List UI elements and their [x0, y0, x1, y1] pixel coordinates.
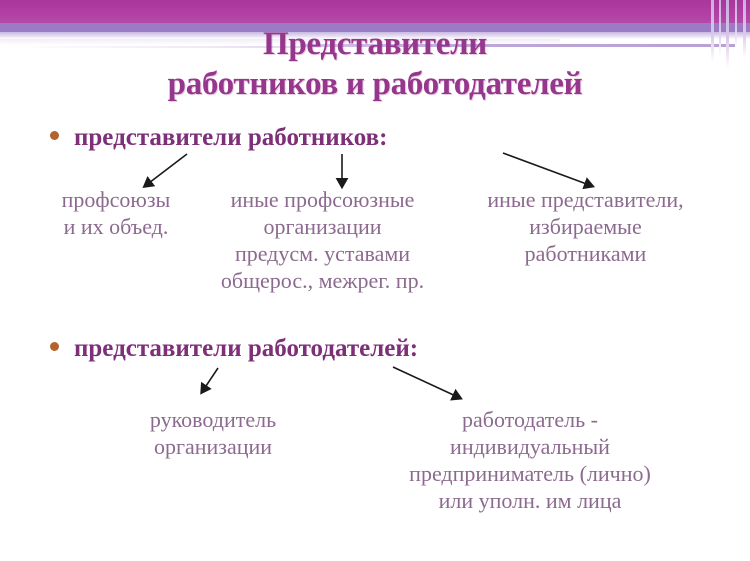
text-line: организации: [108, 433, 318, 460]
bullet-label-employer-representatives: представители работодателей:: [74, 334, 418, 364]
text-line: или уполн. им лица: [330, 487, 730, 514]
bullet-dot-icon: [50, 342, 59, 351]
text-block-individual-entrepreneur: работодатель - индивидуальный предприним…: [330, 406, 730, 514]
text-line: индивидуальный: [330, 433, 730, 460]
slide-canvas: Представители работников и работодателей…: [0, 0, 750, 561]
text-line: общерос., межрег. пр.: [200, 267, 445, 294]
header-band-magenta: [0, 0, 750, 23]
text-line: профсоюзы: [36, 186, 196, 213]
text-block-other-union-orgs: иные профсоюзные организации предусм. ус…: [200, 186, 445, 294]
text-block-org-head: руководитель организации: [108, 406, 318, 460]
text-line: работниками: [448, 240, 723, 267]
bullet-dot-icon: [50, 131, 59, 140]
slide-title-line-2: работников и работодателей: [0, 64, 750, 104]
text-line: и их объед.: [36, 213, 196, 240]
text-line: предусм. уставами: [200, 240, 445, 267]
text-block-other-representatives: иные представители, избираемые работника…: [448, 186, 723, 267]
bullet-label-employee-representatives: представители работников:: [74, 123, 387, 153]
text-line: руководитель: [108, 406, 318, 433]
text-block-trade-unions: профсоюзы и их объед.: [36, 186, 196, 240]
slide-title-line-1: Представители: [0, 24, 750, 64]
text-line: работодатель -: [330, 406, 730, 433]
slide-title: Представители работников и работодателей: [0, 24, 750, 104]
arrow-down-left-icon: [196, 366, 240, 404]
text-line: иные представители,: [448, 186, 723, 213]
text-line: организации: [200, 213, 445, 240]
text-line: избираемые: [448, 213, 723, 240]
bullet-employee-representatives: представители работников:: [50, 123, 387, 153]
bullet-employer-representatives: представители работодателей:: [50, 334, 418, 364]
text-line: предприниматель (лично): [330, 460, 730, 487]
text-line: иные профсоюзные: [200, 186, 445, 213]
arrow-down-right-icon: [390, 364, 480, 406]
